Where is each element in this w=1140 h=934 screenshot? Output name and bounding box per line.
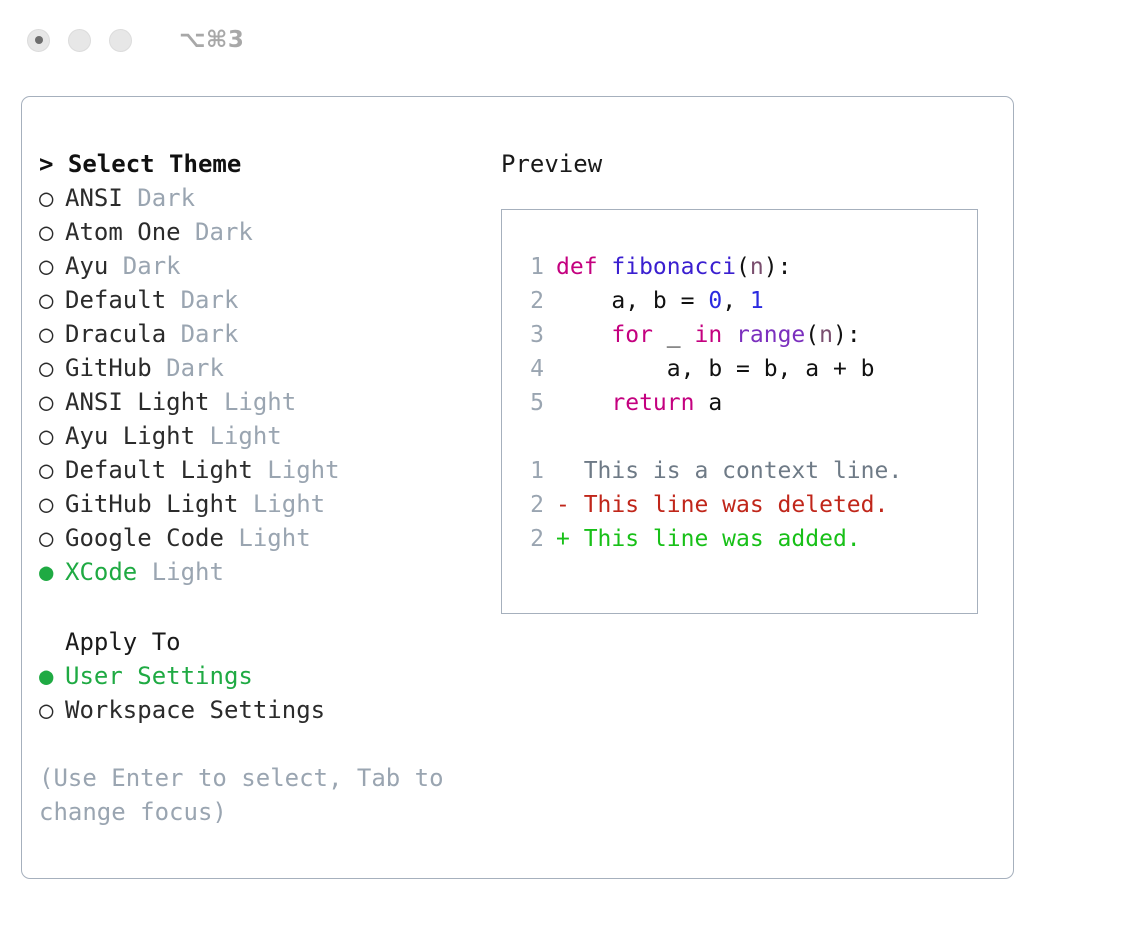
radio-unselected-icon: ○ xyxy=(39,317,65,351)
diff-line-number: 2 xyxy=(522,488,544,522)
apply-to-item[interactable]: ●User Settings xyxy=(39,659,479,693)
code-token-plain: ): xyxy=(764,254,792,280)
code-line: 4 a, b = b, a + b xyxy=(502,352,977,386)
apply-to-label: Workspace Settings xyxy=(65,696,325,724)
theme-variant-label: Light xyxy=(238,490,325,518)
theme-variant-label: Light xyxy=(253,456,340,484)
code-token-plain: _ xyxy=(653,322,695,348)
code-token-plain: a xyxy=(694,390,722,416)
code-line: 1def fibonacci(n): xyxy=(502,250,977,284)
radio-selected-icon: ● xyxy=(39,659,65,693)
radio-unselected-icon: ○ xyxy=(39,181,65,215)
theme-variant-label: Dark xyxy=(152,354,224,382)
theme-name: ANSI xyxy=(65,184,123,212)
main-panel: > Select Theme ○ANSI Dark○Atom One Dark○… xyxy=(21,96,1014,879)
theme-variant-label: Light xyxy=(224,524,311,552)
apply-to-label: User Settings xyxy=(65,662,253,690)
code-token-plain: ( xyxy=(736,254,750,280)
diff-line: 1 This is a context line. xyxy=(502,454,977,488)
radio-unselected-icon: ○ xyxy=(39,385,65,419)
keyboard-hint: (Use Enter to select, Tab to change focu… xyxy=(39,761,449,829)
keyboard-shortcut-label: ⌥⌘3 xyxy=(179,27,244,53)
panel-columns: > Select Theme ○ANSI Dark○Atom One Dark○… xyxy=(22,97,1013,878)
code-line-number: 4 xyxy=(522,352,544,386)
code-token-kw: for xyxy=(556,322,653,348)
window-titlebar: ⌥⌘3 xyxy=(0,0,1140,80)
code-token-plain: a, b = xyxy=(556,288,708,314)
code-token-fn: fibonacci xyxy=(611,254,736,280)
code-token-plain: a, b = b, a + b xyxy=(556,356,875,382)
apply-to-heading: Apply To xyxy=(39,625,479,659)
radio-unselected-icon: ○ xyxy=(39,487,65,521)
radio-unselected-icon: ○ xyxy=(39,351,65,385)
code-sample: 1def fibonacci(n):2 a, b = 0, 13 for _ i… xyxy=(502,250,977,420)
code-token-num: 0 xyxy=(708,288,722,314)
theme-name: GitHub Light xyxy=(65,490,238,518)
theme-variant-label: Dark xyxy=(108,252,180,280)
radio-unselected-icon: ○ xyxy=(39,249,65,283)
radio-unselected-icon: ○ xyxy=(39,453,65,487)
theme-list-item[interactable]: ○Google Code Light xyxy=(39,521,479,555)
theme-list-item[interactable]: ○GitHub Dark xyxy=(39,351,479,385)
theme-name: GitHub xyxy=(65,354,152,382)
code-line-number: 3 xyxy=(522,318,544,352)
diff-line-text-ctx: This is a context line. xyxy=(556,458,902,484)
code-line: 5 return a xyxy=(502,386,977,420)
theme-list-item[interactable]: ●XCode Light xyxy=(39,555,479,589)
theme-list-item[interactable]: ○Ayu Dark xyxy=(39,249,479,283)
theme-name: Ayu Light xyxy=(65,422,195,450)
apply-to-item[interactable]: ○Workspace Settings xyxy=(39,693,479,727)
select-theme-heading: > Select Theme xyxy=(39,147,479,181)
code-token-param: n xyxy=(750,254,764,280)
window-dot-active-indicator xyxy=(35,36,43,44)
code-token-kw: in xyxy=(694,322,722,348)
code-token-param: n xyxy=(819,322,833,348)
code-line: 2 a, b = 0, 1 xyxy=(502,284,977,318)
diff-line-text-add: + This line was added. xyxy=(556,526,861,552)
theme-name: Dracula xyxy=(65,320,166,348)
code-token-plain xyxy=(722,322,736,348)
diff-line-text-del: - This line was deleted. xyxy=(556,492,888,518)
theme-variant-label: Dark xyxy=(166,320,238,348)
theme-variant-label: Light xyxy=(210,388,297,416)
code-token-plain: , xyxy=(722,288,750,314)
theme-list-item[interactable]: ○Ayu Light Light xyxy=(39,419,479,453)
radio-unselected-icon: ○ xyxy=(39,693,65,727)
theme-variant-label: Light xyxy=(195,422,282,450)
radio-selected-icon: ● xyxy=(39,555,65,589)
theme-list-item[interactable]: ○Atom One Dark xyxy=(39,215,479,249)
theme-list-item[interactable]: ○Default Light Light xyxy=(39,453,479,487)
theme-variant-label: Light xyxy=(137,558,224,586)
theme-picker-window: ⌥⌘3 > Select Theme ○ANSI Dark○Atom One D… xyxy=(0,0,1140,934)
window-controls xyxy=(27,29,132,52)
theme-name: Atom One xyxy=(65,218,181,246)
code-token-kw: def xyxy=(556,254,611,280)
theme-list-item[interactable]: ○Dracula Dark xyxy=(39,317,479,351)
code-line-number: 1 xyxy=(522,250,544,284)
code-token-kw: return xyxy=(556,390,694,416)
diff-line: 2+ This line was added. xyxy=(502,522,977,556)
theme-list-item[interactable]: ○GitHub Light Light xyxy=(39,487,479,521)
preview-column: Preview 1def fibonacci(n):2 a, b = 0, 13… xyxy=(501,147,1001,614)
theme-list-item[interactable]: ○Default Dark xyxy=(39,283,479,317)
window-dot-second[interactable] xyxy=(68,29,91,52)
theme-name: Default xyxy=(65,286,166,314)
code-token-call: range xyxy=(736,322,805,348)
preview-box: 1def fibonacci(n):2 a, b = 0, 13 for _ i… xyxy=(501,209,978,614)
radio-unselected-icon: ○ xyxy=(39,521,65,555)
diff-line-number: 2 xyxy=(522,522,544,556)
code-token-num: 1 xyxy=(750,288,764,314)
section-spacer xyxy=(39,589,479,625)
theme-variant-label: Dark xyxy=(123,184,195,212)
theme-picker-column: > Select Theme ○ANSI Dark○Atom One Dark○… xyxy=(39,147,479,829)
window-dot-active[interactable] xyxy=(27,29,50,52)
theme-list-item[interactable]: ○ANSI Light Light xyxy=(39,385,479,419)
theme-variant-label: Dark xyxy=(181,218,253,246)
code-diff-spacer xyxy=(502,420,977,454)
preview-heading: Preview xyxy=(501,147,1001,181)
diff-line: 2- This line was deleted. xyxy=(502,488,977,522)
theme-name: Google Code xyxy=(65,524,224,552)
apply-to-list: ●User Settings○Workspace Settings xyxy=(39,659,479,727)
theme-name: ANSI Light xyxy=(65,388,210,416)
code-line-number: 2 xyxy=(522,284,544,318)
code-token-plain: ): xyxy=(833,322,861,348)
diff-line-number: 1 xyxy=(522,454,544,488)
window-dot-third[interactable] xyxy=(109,29,132,52)
theme-variant-label: Dark xyxy=(166,286,238,314)
diff-sample: 1 This is a context line.2- This line wa… xyxy=(502,454,977,556)
code-line-number: 5 xyxy=(522,386,544,420)
theme-name: Ayu xyxy=(65,252,108,280)
theme-list-item[interactable]: ○ANSI Dark xyxy=(39,181,479,215)
radio-unselected-icon: ○ xyxy=(39,215,65,249)
radio-unselected-icon: ○ xyxy=(39,283,65,317)
radio-unselected-icon: ○ xyxy=(39,419,65,453)
code-token-plain: ( xyxy=(805,322,819,348)
code-line: 3 for _ in range(n): xyxy=(502,318,977,352)
theme-name: XCode xyxy=(65,558,137,586)
theme-name: Default Light xyxy=(65,456,253,484)
theme-list: ○ANSI Dark○Atom One Dark○Ayu Dark○Defaul… xyxy=(39,181,479,589)
